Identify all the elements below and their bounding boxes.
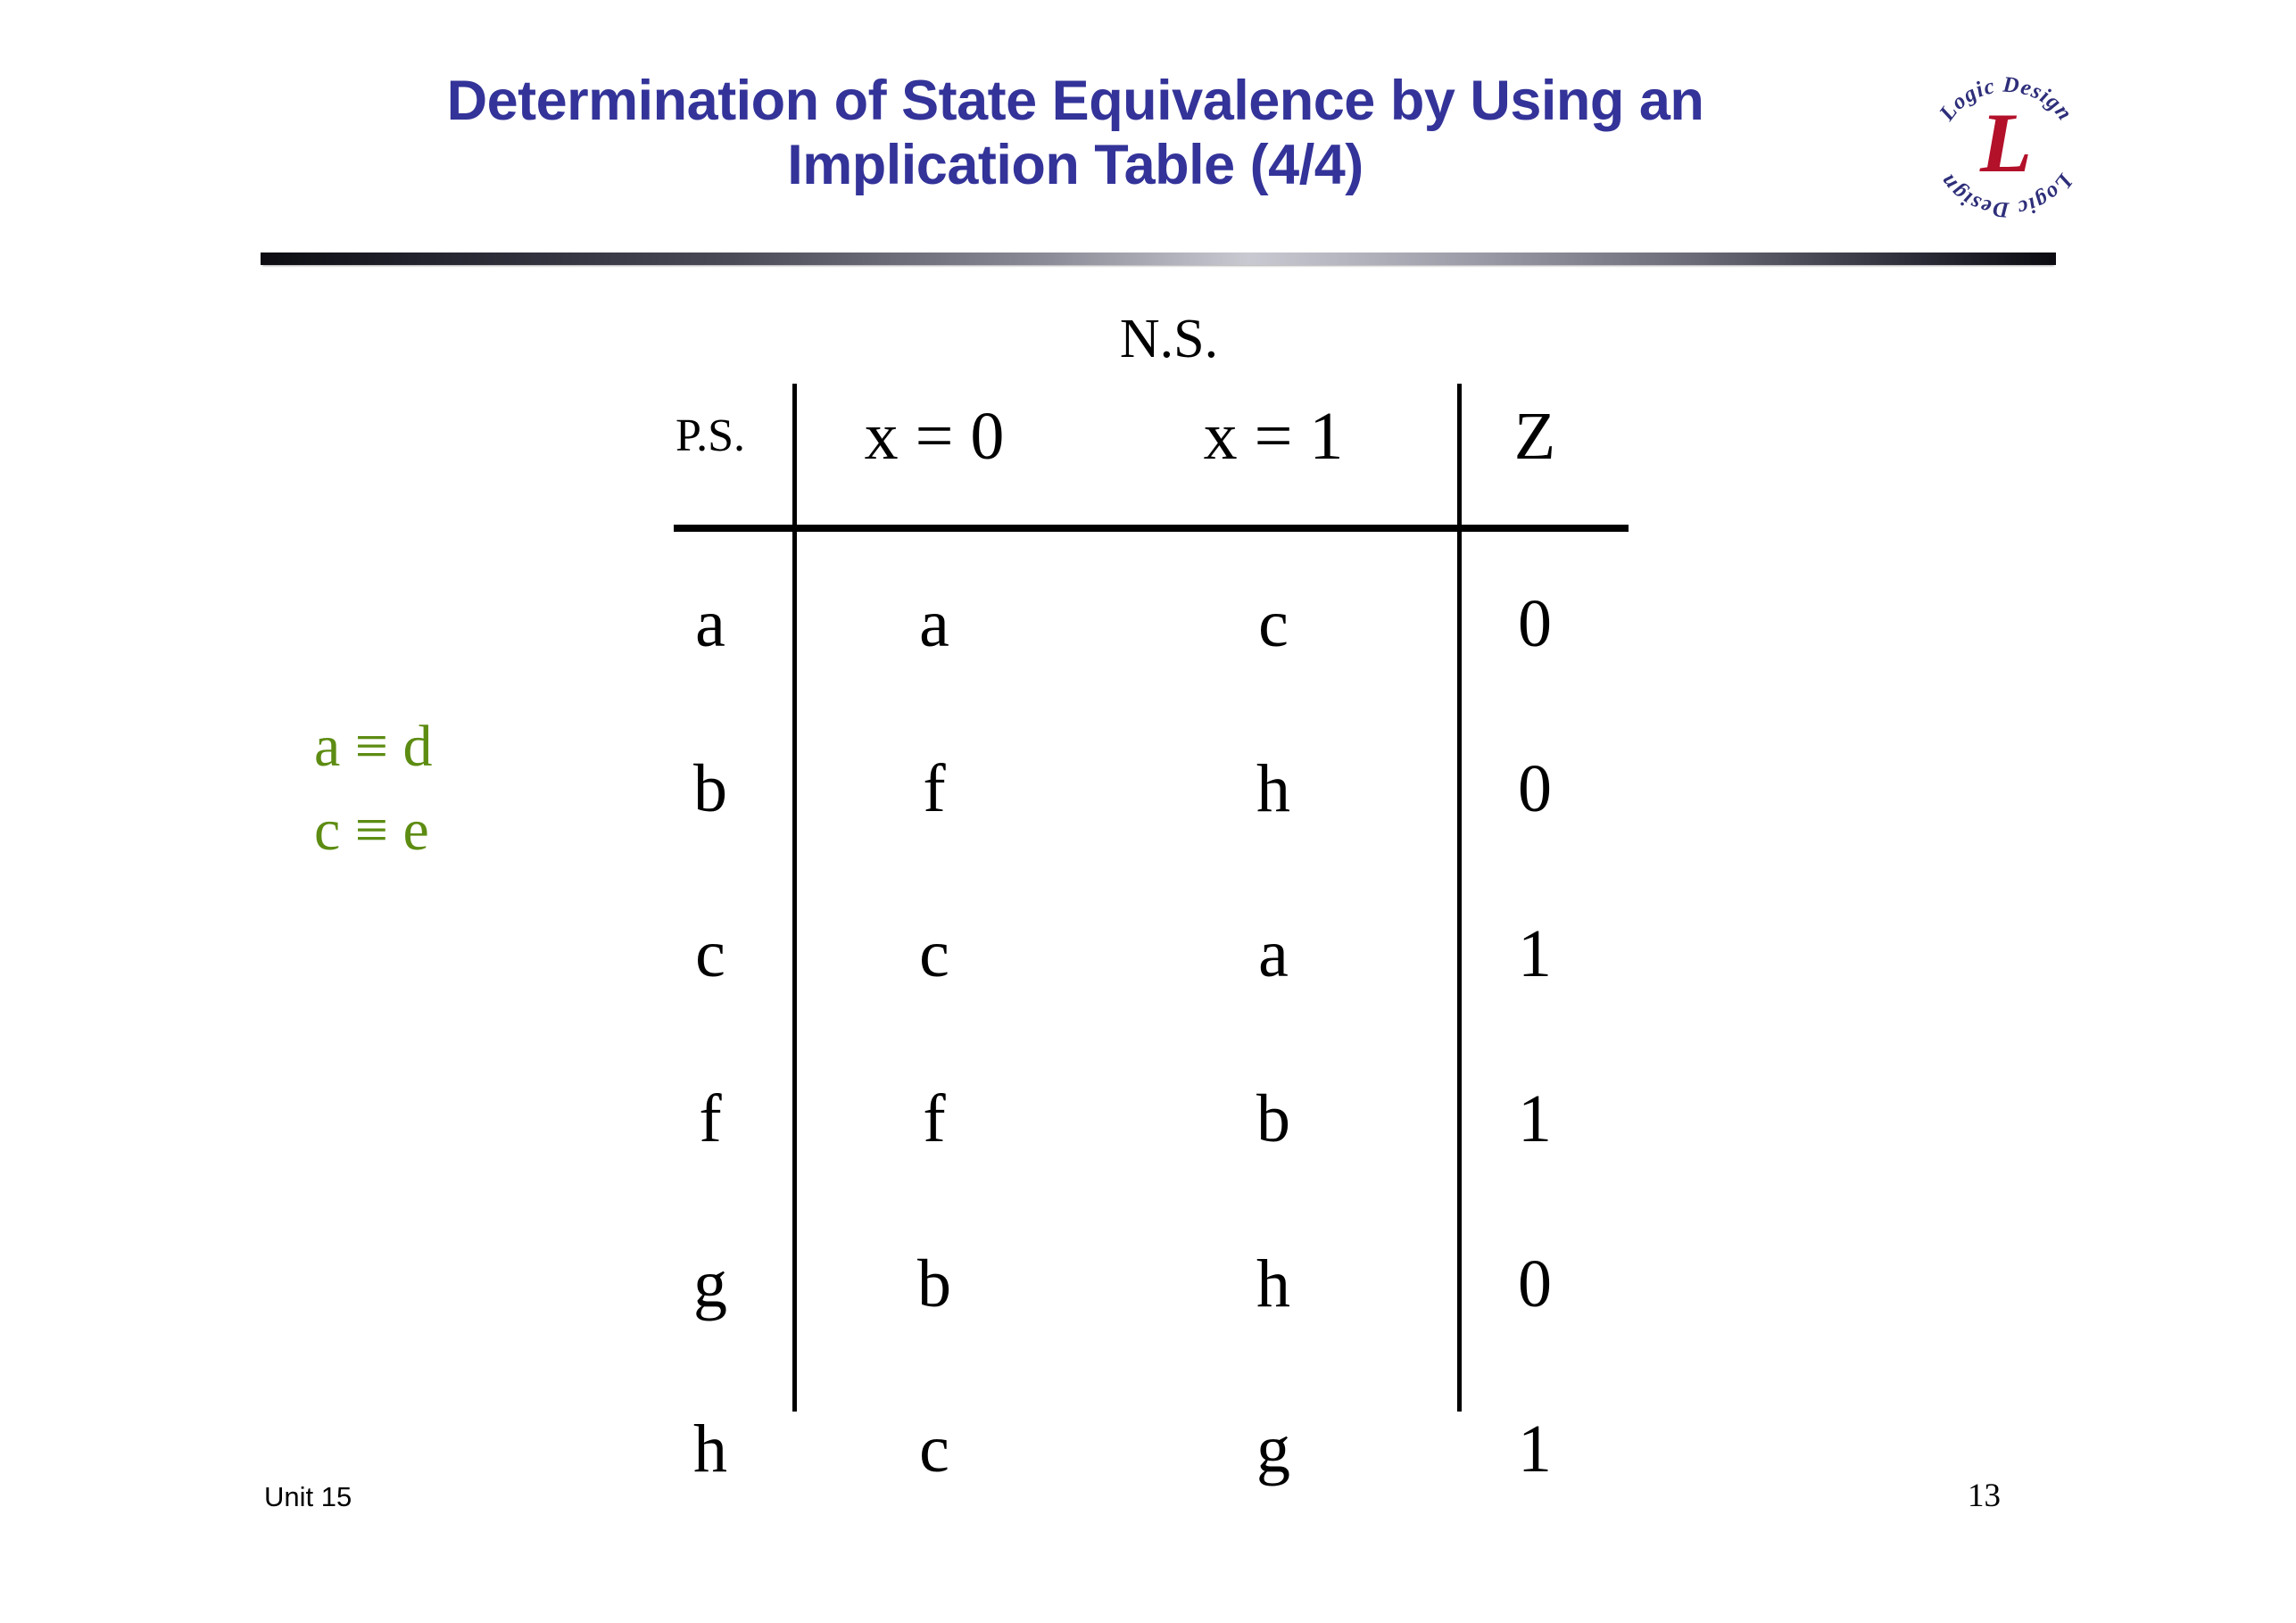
table-row: c c a 1 (625, 872, 1624, 1037)
cell-next-state-x0: b (796, 1202, 1073, 1367)
table-body: a a c 0 b f h 0 c c a 1 f f b 1 (625, 542, 1624, 1532)
cell-next-state-x1: h (1135, 707, 1412, 872)
equivalence-notes: a ≡ d c ≡ e (314, 705, 573, 872)
cell-next-state-x1: g (1135, 1367, 1412, 1532)
cell-output-z: 0 (1463, 1202, 1606, 1367)
footer-page-number: 13 (1968, 1477, 2001, 1515)
next-state-group-header: N.S. (625, 308, 1624, 371)
cell-present-state: c (639, 872, 782, 1037)
cell-present-state: b (639, 707, 782, 872)
table-row: h c g 1 (625, 1367, 1624, 1532)
cell-next-state-x0: c (796, 1367, 1073, 1532)
cell-output-z: 1 (1463, 1367, 1606, 1532)
equivalence-line-1: a ≡ d (314, 705, 573, 789)
table-row: f f b 1 (625, 1037, 1624, 1202)
table-row: g b h 0 (625, 1202, 1624, 1367)
cell-next-state-x1: b (1135, 1037, 1412, 1202)
table-row: b f h 0 (625, 707, 1624, 872)
cell-output-z: 1 (1463, 1037, 1606, 1202)
title-line-1: Determination of State Equivalence by Us… (259, 70, 1892, 134)
cell-output-z: 1 (1463, 872, 1606, 1037)
title-line-2: Implication Table (4/4) (259, 134, 1892, 198)
cell-present-state: f (639, 1037, 782, 1202)
slide-canvas: Determination of State Equivalence by Us… (0, 0, 2296, 1623)
cell-next-state-x0: f (796, 1037, 1073, 1202)
cell-output-z: 0 (1463, 707, 1606, 872)
cell-present-state: a (639, 542, 782, 707)
equivalence-line-2: c ≡ e (314, 789, 573, 873)
footer-unit-label: Unit 15 (264, 1481, 352, 1513)
table-header-divider (674, 525, 1629, 532)
state-transition-table: N.S. P.S. x = 0 x = 1 Z a a c 0 b f h 0 (625, 308, 1624, 1423)
cell-next-state-x0: a (796, 542, 1073, 707)
column-header-output-z: Z (1463, 386, 1606, 486)
column-header-x-equals-1: x = 1 (1135, 386, 1412, 486)
cell-next-state-x1: c (1135, 542, 1412, 707)
cell-next-state-x0: c (796, 872, 1073, 1037)
cell-next-state-x1: h (1135, 1202, 1412, 1367)
title-divider (261, 253, 2056, 265)
table-header-row: P.S. x = 0 x = 1 Z (625, 386, 1624, 486)
column-header-present-state: P.S. (639, 386, 782, 486)
column-header-x-equals-0: x = 0 (796, 386, 1073, 486)
cell-next-state-x0: f (796, 707, 1073, 872)
svg-text:L: L (1979, 95, 2032, 190)
page-title: Determination of State Equivalence by Us… (259, 70, 1892, 198)
table-row: a a c 0 (625, 542, 1624, 707)
cell-output-z: 0 (1463, 542, 1606, 707)
cell-present-state: g (639, 1202, 782, 1367)
cell-present-state: h (639, 1367, 782, 1532)
logic-design-logo-icon: Logic Design Logic Design L (1917, 62, 2095, 223)
cell-next-state-x1: a (1135, 872, 1412, 1037)
